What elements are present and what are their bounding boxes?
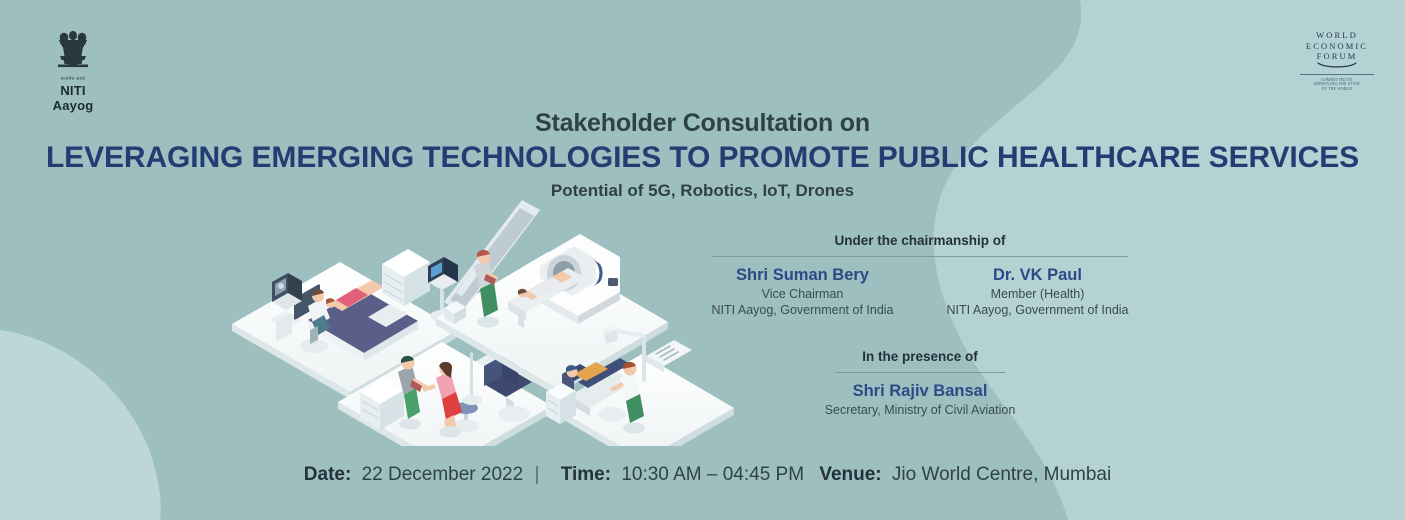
speakers-block: Under the chairmanship of Shri Suman Ber… — [690, 232, 1150, 418]
chair-org: NITI Aayog, Government of India — [700, 302, 905, 318]
venue-value: Jio World Centre, Mumbai — [892, 464, 1111, 485]
isometric-healthcare-illustration — [222, 196, 742, 446]
presence-block: In the presence of Shri Rajiv Bansal Sec… — [690, 348, 1150, 418]
chair-org: NITI Aayog, Government of India — [935, 302, 1140, 318]
presence-divider — [835, 372, 1005, 373]
chairmanship-label: Under the chairmanship of — [690, 232, 1150, 250]
chair-role: Vice Chairman — [700, 286, 905, 302]
venue-label: Venue: — [819, 464, 881, 485]
details-separator: | — [528, 464, 545, 485]
event-subtitle: Potential of 5G, Robotics, IoT, Drones — [0, 179, 1405, 203]
wef-line-2: ECONOMIC — [1289, 41, 1385, 52]
date-value: 22 December 2022 — [362, 464, 524, 485]
chair-name: Dr. VK Paul — [935, 265, 1140, 286]
niti-wordmark: NITI Aayog — [40, 83, 106, 113]
chair-item: Dr. VK Paul Member (Health) NITI Aayog, … — [935, 265, 1140, 318]
page-title: LEVERAGING EMERGING TECHNOLOGIES TO PROM… — [0, 138, 1405, 178]
wef-line-1: WORLD — [1289, 30, 1385, 41]
heading-block: Stakeholder Consultation on LEVERAGING E… — [0, 108, 1405, 203]
guest-role: Secretary, Ministry of Civil Aviation — [770, 402, 1070, 418]
chairmanship-divider — [712, 256, 1128, 257]
date-label: Date: — [304, 464, 352, 485]
wef-line-3: FORUM — [1289, 51, 1385, 62]
emblem-motto: सत्यमेव जयते — [40, 77, 106, 82]
world-economic-forum-logo: WORLD ECONOMIC FORUM COMMITTED TO IMPROV… — [1289, 30, 1385, 91]
guest-name: Shri Rajiv Bansal — [770, 381, 1070, 402]
guest-item: Shri Rajiv Bansal Secretary, Ministry of… — [770, 381, 1070, 418]
event-kicker: Stakeholder Consultation on — [0, 108, 1405, 138]
chair-item: Shri Suman Bery Vice Chairman NITI Aayog… — [700, 265, 905, 318]
presence-label: In the presence of — [690, 348, 1150, 366]
wef-divider — [1300, 74, 1374, 75]
chair-role: Member (Health) — [935, 286, 1140, 302]
event-banner: सत्यमेव जयते NITI Aayog WORLD ECONOMIC F… — [0, 0, 1405, 520]
chair-list: Shri Suman Bery Vice Chairman NITI Aayog… — [690, 265, 1150, 318]
ashoka-lion-capital-emblem — [53, 28, 93, 76]
time-value: 10:30 AM – 04:45 PM — [621, 464, 804, 485]
time-label: Time: — [561, 464, 611, 485]
chair-name: Shri Suman Bery — [700, 265, 905, 286]
niti-aayog-logo: सत्यमेव जयते NITI Aayog — [40, 28, 106, 113]
event-details-bar: Date: 22 December 2022 | Time: 10:30 AM … — [0, 462, 1405, 488]
wef-tagline-3: OF THE WORLD — [1289, 87, 1385, 92]
wef-swoosh-icon — [1317, 62, 1357, 69]
